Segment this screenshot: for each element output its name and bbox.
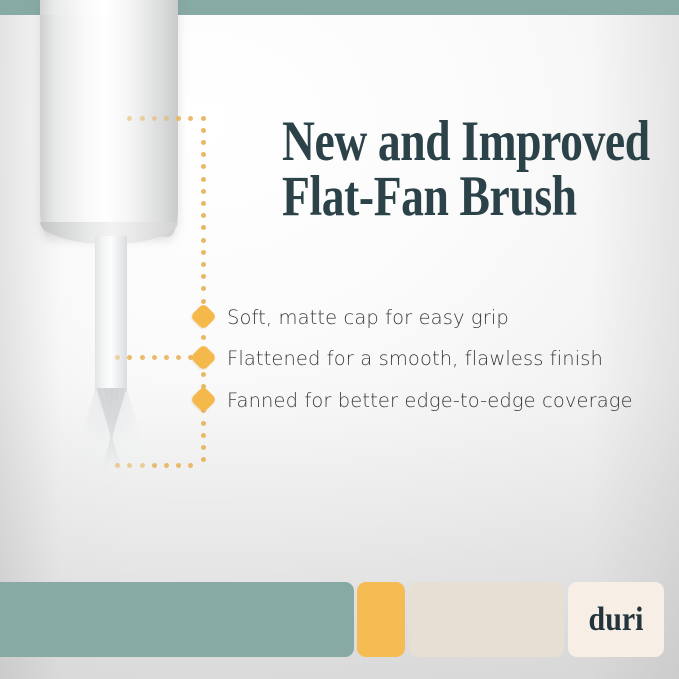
brush-bristles: [62, 388, 160, 484]
bar-segment-beige: [409, 582, 564, 657]
feature-item-2: Flattened for a smooth, flawless finish: [227, 347, 603, 370]
feature-item-1: Soft, matte cap for easy grip: [227, 306, 509, 329]
brush-cap: [40, 0, 178, 237]
page-title: New and Improved Flat-Fan Brush: [282, 114, 586, 225]
brush-stem: [95, 236, 127, 392]
feature-item-3: Fanned for better edge-to-edge coverage: [227, 389, 633, 412]
headline-line-2: Flat-Fan Brush: [282, 169, 586, 224]
headline-line-1: New and Improved: [282, 110, 650, 173]
product-feature-graphic: New and Improved Flat-Fan Brush Soft, ma…: [0, 0, 679, 679]
brand-logo: duri: [574, 582, 658, 657]
bar-segment-amber: [357, 582, 405, 657]
product-image: [0, 0, 240, 520]
bar-segment-teal: [0, 582, 354, 657]
